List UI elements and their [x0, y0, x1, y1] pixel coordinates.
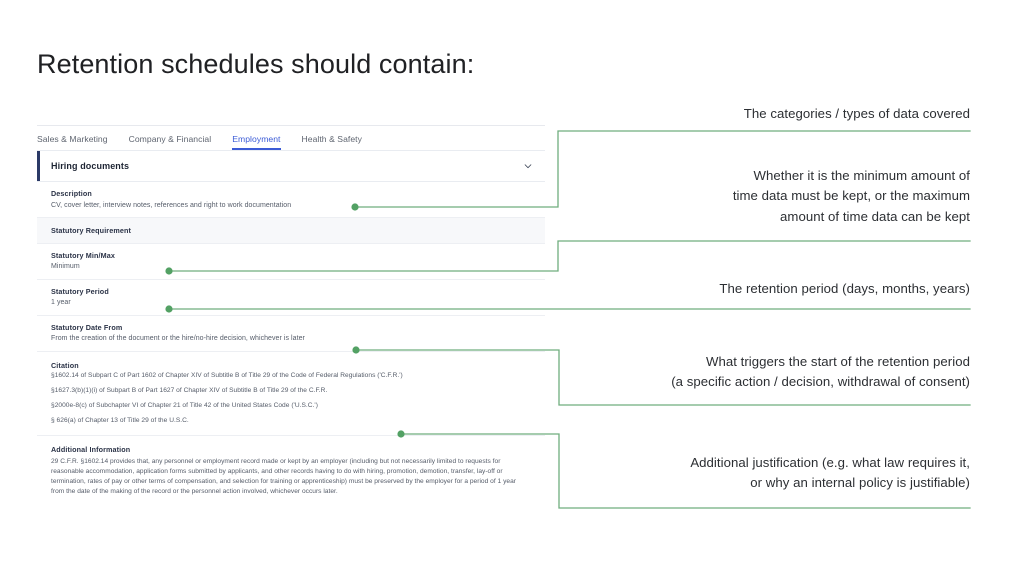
field-value-description: CV, cover letter, interview notes, refer… [51, 201, 531, 210]
citation-line: §2000e-8(c) of Subchapter VI of Chapter … [51, 402, 531, 411]
section-label-statutory-requirement: Statutory Requirement [51, 226, 531, 235]
field-description: Description CV, cover letter, interview … [37, 182, 545, 218]
tab-health-safety[interactable]: Health & Safety [302, 130, 362, 150]
annotation-min-max: Whether it is the minimum amount of time… [570, 166, 970, 227]
annotation-retention-period-text: The retention period (days, months, year… [719, 281, 970, 296]
annotation-retention-period: The retention period (days, months, year… [570, 279, 970, 299]
field-label-statutory-min-max: Statutory Min/Max [51, 251, 531, 260]
field-statutory-min-max: Statutory Min/Max Minimum [37, 244, 545, 280]
tab-company-financial[interactable]: Company & Financial [129, 130, 212, 150]
annotation-justification-line2: or why an internal policy is justifiable… [570, 473, 970, 493]
citation-line: § 626(a) of Chapter 13 of Title 29 of th… [51, 417, 531, 426]
tab-employment[interactable]: Employment [232, 130, 280, 150]
annotation-categories: The categories / types of data covered [570, 104, 970, 124]
annotation-trigger-line2: (a specific action / decision, withdrawa… [570, 372, 970, 392]
accordion-title: Hiring documents [51, 161, 129, 171]
annotation-column: The categories / types of data covered W… [570, 0, 970, 576]
section-header-statutory-requirement: Statutory Requirement [37, 218, 545, 244]
citation-line: §1602.14 of Subpart C of Part 1602 of Ch… [51, 372, 531, 381]
annotation-min-max-line1: Whether it is the minimum amount of [570, 166, 970, 186]
field-label-statutory-period: Statutory Period [51, 287, 531, 296]
field-label-additional-information: Additional Information [51, 445, 531, 454]
category-tab-bar: Sales & Marketing Company & Financial Em… [37, 125, 545, 150]
field-value-statutory-period: 1 year [51, 298, 531, 307]
annotation-trigger: What triggers the start of the retention… [570, 352, 970, 393]
field-statutory-date-from: Statutory Date From From the creation of… [37, 316, 545, 352]
field-value-statutory-date-from: From the creation of the document or the… [51, 334, 531, 343]
field-label-citation: Citation [51, 361, 531, 370]
field-value-additional-information: 29 C.F.R. §1602.14 provides that, any pe… [51, 457, 531, 498]
retention-schedule-card: Sales & Marketing Company & Financial Em… [37, 125, 545, 507]
citation-line: §1627.3(b)(1)(i) of Subpart B of Part 16… [51, 387, 531, 396]
annotation-min-max-line3: amount of time data can be kept [570, 207, 970, 227]
chevron-down-icon[interactable] [523, 161, 533, 171]
field-label-statutory-date-from: Statutory Date From [51, 323, 531, 332]
annotation-trigger-line1: What triggers the start of the retention… [570, 352, 970, 372]
accordion-header-hiring-documents[interactable]: Hiring documents [37, 150, 545, 182]
annotation-min-max-line2: time data must be kept, or the maximum [570, 186, 970, 206]
field-citation: Citation §1602.14 of Subpart C of Part 1… [37, 352, 545, 436]
field-additional-information: Additional Information 29 C.F.R. §1602.1… [37, 436, 545, 507]
annotation-categories-text: The categories / types of data covered [744, 106, 970, 121]
tab-sales-marketing[interactable]: Sales & Marketing [37, 130, 108, 150]
field-label-description: Description [51, 189, 531, 198]
page-title: Retention schedules should contain: [37, 48, 474, 80]
field-statutory-period: Statutory Period 1 year [37, 280, 545, 316]
annotation-justification: Additional justification (e.g. what law … [570, 453, 970, 494]
annotation-justification-line1: Additional justification (e.g. what law … [570, 453, 970, 473]
field-value-statutory-min-max: Minimum [51, 262, 531, 271]
